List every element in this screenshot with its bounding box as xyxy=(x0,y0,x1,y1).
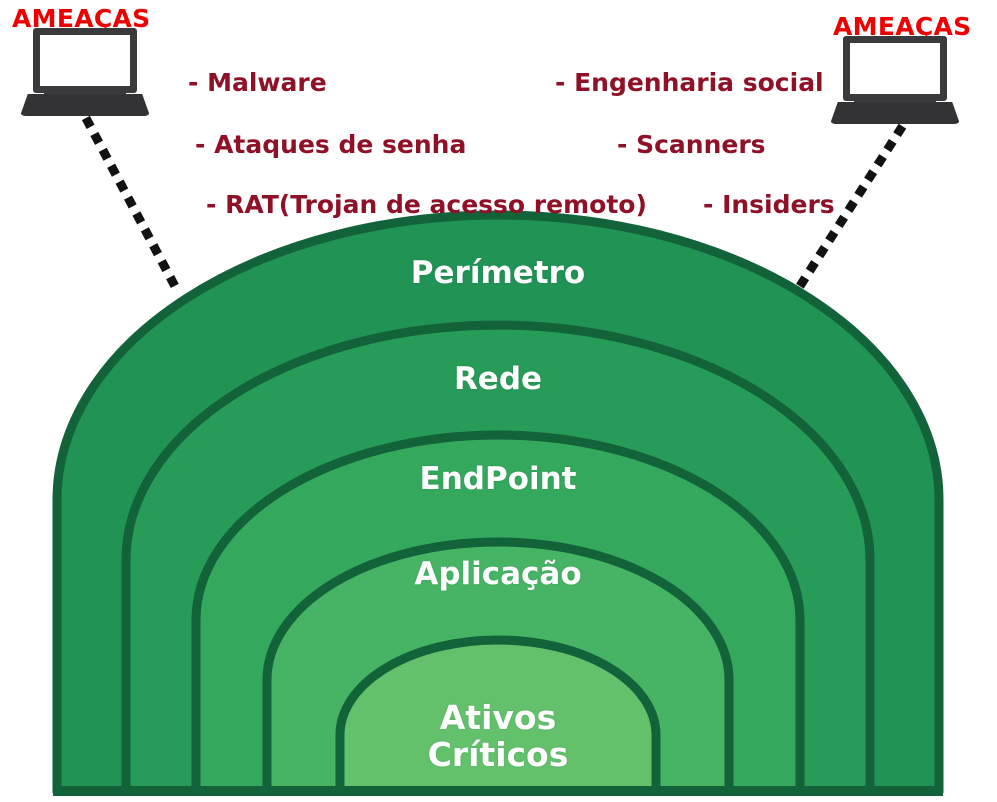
threat-item-scanners: - Scanners xyxy=(617,130,766,159)
threat-item-malware: - Malware xyxy=(188,68,327,97)
threat-item-insiders: - Insiders xyxy=(703,190,835,219)
laptop-screen xyxy=(33,28,137,93)
laptop-icon-left xyxy=(20,28,150,118)
arch-label-perimetro: Perímetro xyxy=(348,256,648,291)
laptop-base xyxy=(830,102,960,124)
laptop-screen xyxy=(843,36,947,101)
arch-label-endpoint: EndPoint xyxy=(348,462,648,497)
threat-item-social-engineering: - Engenharia social xyxy=(555,68,824,97)
threat-item-rat: - RAT(Trojan de acesso remoto) xyxy=(206,190,647,219)
laptop-icon-right xyxy=(830,36,960,126)
attack-path-left-icon xyxy=(70,112,200,302)
arch-label-rede: Rede xyxy=(348,362,648,397)
diagram-canvas: Perímetro Rede EndPoint Aplicação Ativos… xyxy=(0,0,997,802)
arch-label-ativos-criticos: Ativos Críticos xyxy=(348,700,648,774)
arch-baseline xyxy=(53,786,943,796)
threat-item-password-attacks: - Ataques de senha xyxy=(195,130,466,159)
arch-label-aplicacao: Aplicação xyxy=(348,557,648,592)
